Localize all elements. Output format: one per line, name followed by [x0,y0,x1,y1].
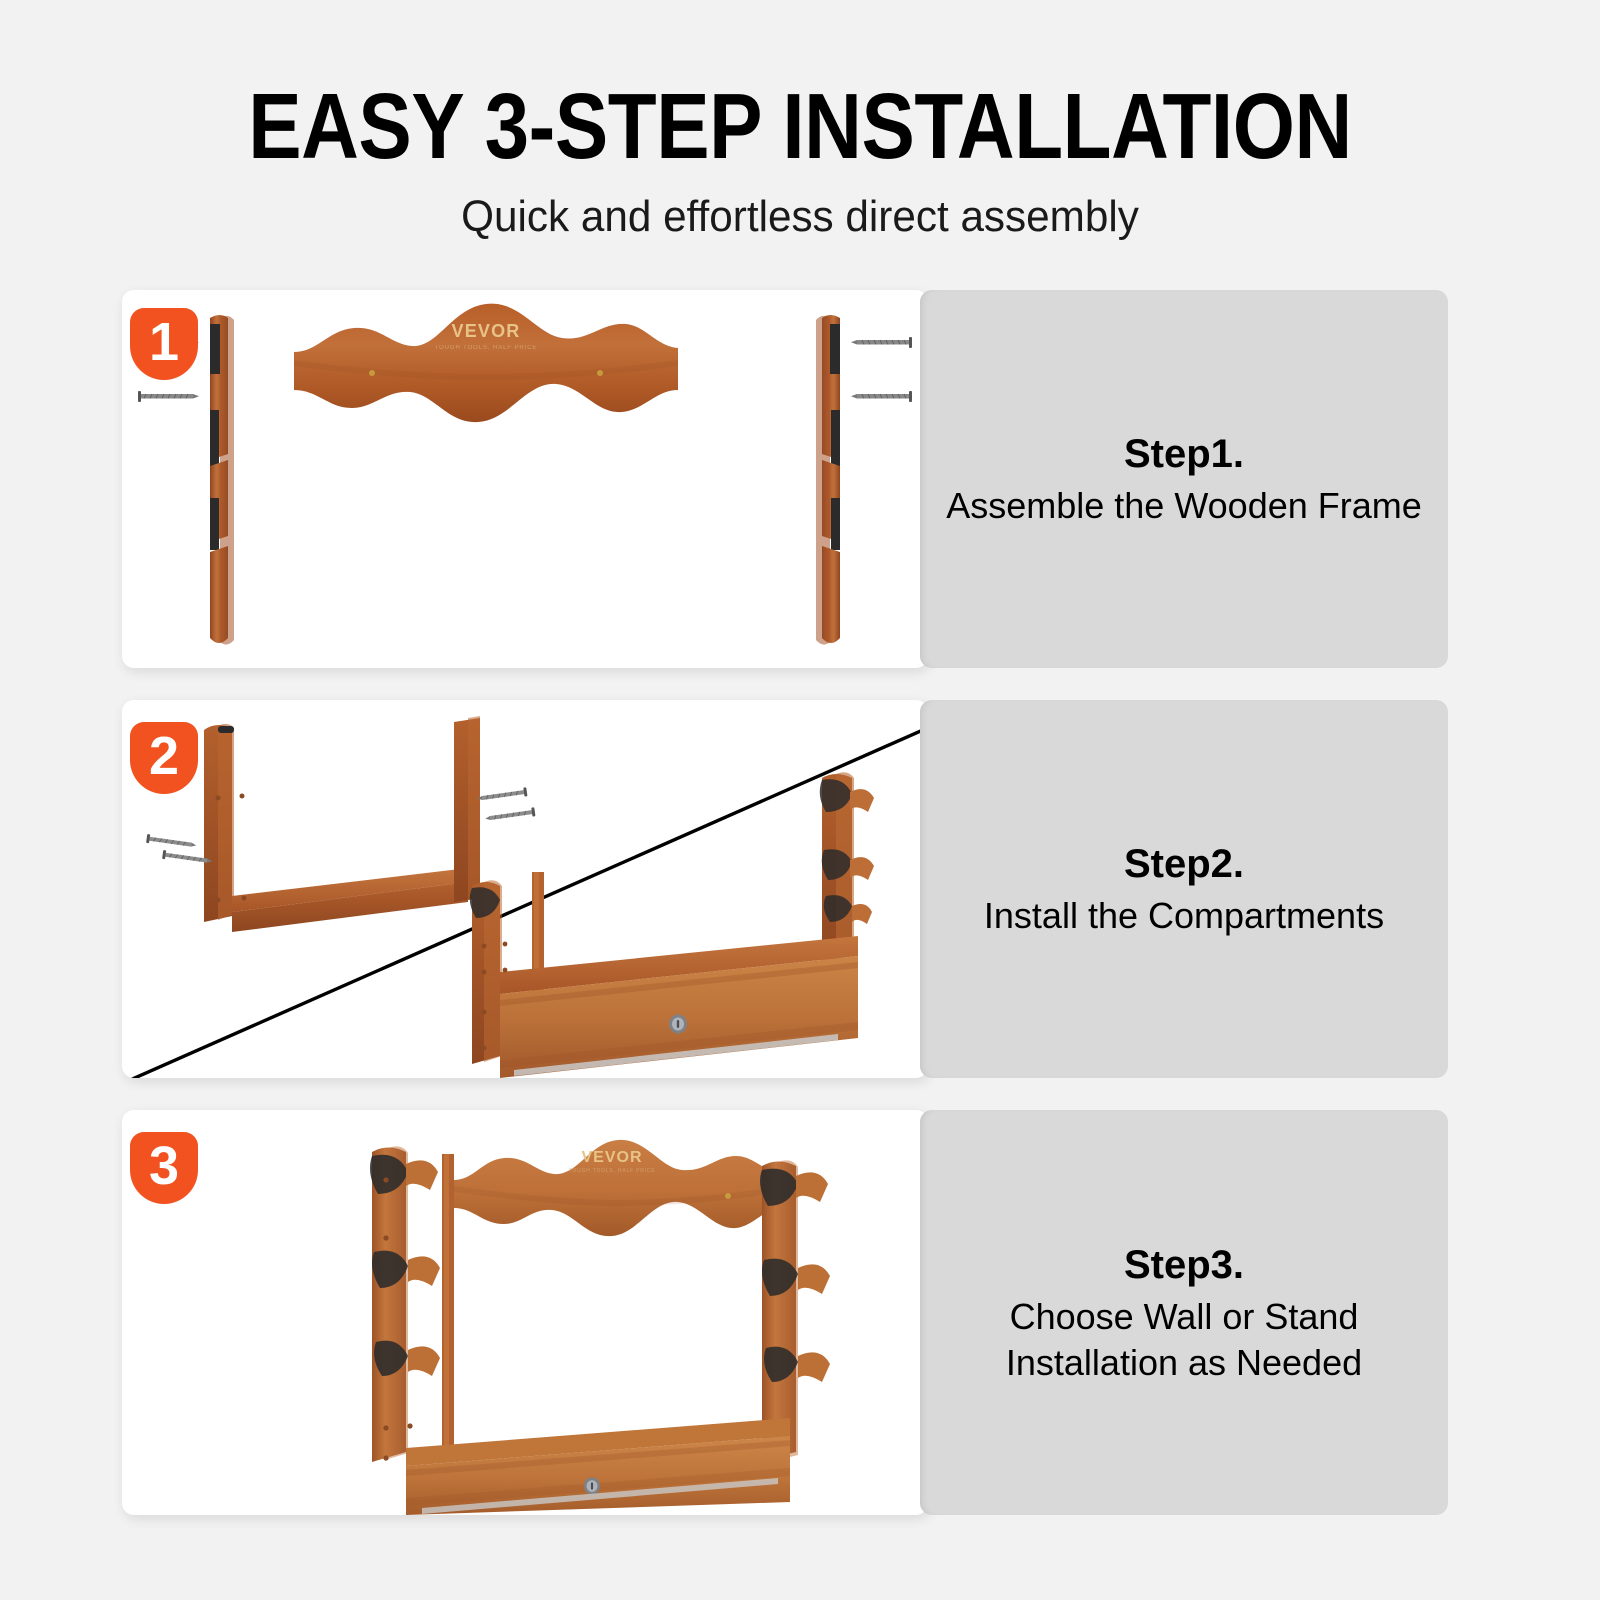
step-badge-3: 3 [130,1132,198,1204]
right-post-with-cradles [760,1160,830,1460]
base-drawer [406,1418,790,1515]
step-1-image-card: VEVOR TOUGH TOOLS, HALF PRICE [122,290,928,668]
step-3-label: Step3. [1124,1240,1244,1290]
step-2-text-panel: Step2. Install the Compartments [920,700,1448,1078]
drawer-lock-icon [584,1478,600,1495]
drawer-compartment-assembly [470,772,874,1078]
step-3-description-line-1: Choose Wall or Stand [1010,1294,1359,1340]
screw-icon [146,834,197,850]
screw-hole [725,1193,731,1199]
step-badge-1: 1 [130,308,198,380]
screw-icon [138,391,199,402]
step-badge-2: 2 [130,722,198,794]
screw-group-shelf-left [146,834,213,866]
drawer-lock-icon [669,1015,687,1034]
left-post-with-cradles [370,1146,440,1462]
infographic-page: EASY 3-STEP INSTALLATION Quick and effor… [0,0,1600,1600]
vevor-tagline: TOUGH TOOLS, HALF PRICE [435,345,538,351]
step-1-text-panel: Step1. Assemble the Wooden Frame [920,290,1448,668]
step-3-illustration: VEVOR TOUGH TOOLS, HALF PRICE [122,1110,928,1515]
step-1-illustration: VEVOR TOUGH TOOLS, HALF PRICE [122,290,928,668]
step-row-3: VEVOR TOUGH TOOLS, HALF PRICE [0,1110,1600,1515]
screw-icon [851,391,912,402]
header: EASY 3-STEP INSTALLATION Quick and effor… [0,76,1600,244]
screw-icon [477,787,528,803]
step-3-image-card: VEVOR TOUGH TOOLS, HALF PRICE [122,1110,928,1515]
screw-group-shelf-right [477,787,536,823]
page-title: EASY 3-STEP INSTALLATION [112,76,1488,176]
step-3-description-line-2: Installation as Needed [1006,1340,1362,1386]
screw-hole-left [369,370,375,376]
vevor-tagline: TOUGH TOOLS, HALF PRICE [569,1168,656,1174]
screw-hole-right [597,370,603,376]
step-2-illustration [122,700,928,1078]
wavy-top-panel: VEVOR TOUGH TOOLS, HALF PRICE [294,304,678,422]
step-3-text-panel: Step3. Choose Wall or Stand Installation… [920,1110,1448,1515]
right-side-rail [816,315,840,645]
step-2-description: Install the Compartments [984,893,1384,939]
step-row-2: 2 Step2. Install the Compartments [0,700,1600,1078]
wavy-top-panel: VEVOR TOUGH TOOLS, HALF PRICE [454,1140,782,1236]
vevor-logo: VEVOR [581,1149,642,1166]
screw-icon [851,337,912,348]
step-2-label: Step2. [1124,839,1244,889]
step-row-1: VEVOR TOUGH TOOLS, HALF PRICE [0,290,1600,668]
page-subtitle: Quick and effortless direct assembly [32,190,1568,244]
step-1-label: Step1. [1124,429,1244,479]
step-1-description: Assemble the Wooden Frame [946,483,1422,529]
vevor-logo: VEVOR [451,321,520,341]
screw-group-right [851,337,912,402]
step-2-image-card [122,700,928,1078]
left-side-rail [210,315,234,645]
screw-icon [485,807,536,823]
